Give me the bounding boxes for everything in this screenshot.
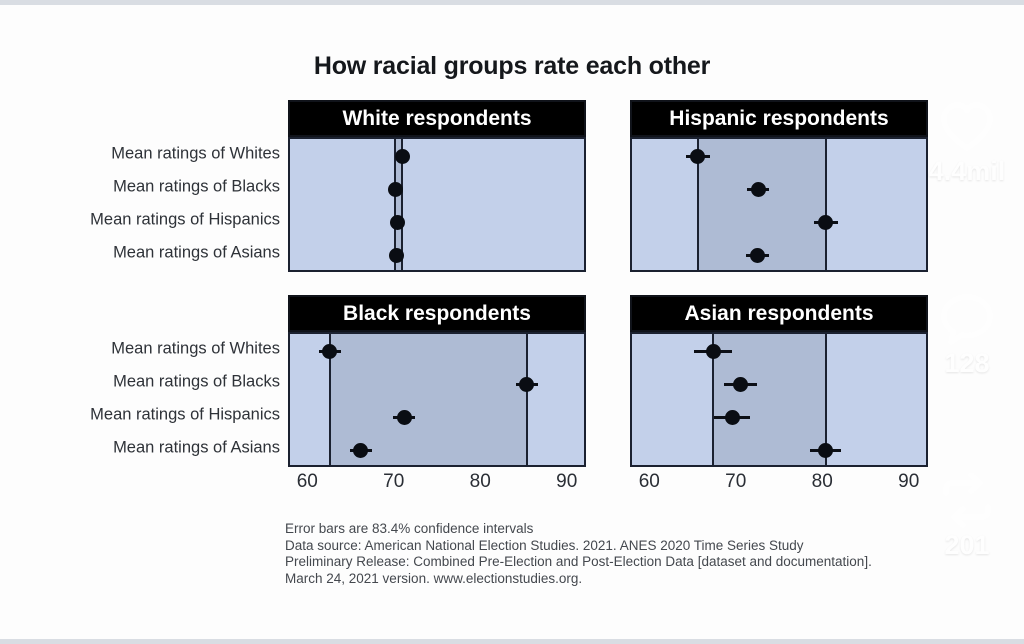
- data-point: [818, 215, 833, 230]
- x-tick-label: 90: [898, 471, 919, 493]
- x-axis: 60708090: [630, 471, 928, 493]
- footnote: Error bars are 83.4% confidence interval…: [285, 521, 872, 587]
- page-title: How racial groups rate each other: [0, 52, 1024, 81]
- comment-button[interactable]: 128: [924, 288, 1010, 379]
- footnote-line: Data source: American National Election …: [285, 538, 872, 555]
- data-row: [290, 335, 584, 368]
- footnote-line: Error bars are 83.4% confidence interval…: [285, 521, 872, 538]
- panel-black-respondents: Black respondents: [288, 295, 586, 467]
- panel-hispanic-respondents: Hispanic respondents: [630, 100, 928, 272]
- panel-white-respondents: White respondents: [288, 100, 586, 272]
- x-tick-label: 60: [297, 471, 318, 493]
- data-row: [290, 368, 584, 401]
- data-point: [818, 443, 833, 458]
- panel-title-white-respondents: White respondents: [288, 100, 586, 137]
- data-point: [519, 377, 534, 392]
- data-row: [632, 368, 926, 401]
- y-axis-label: Mean ratings of Blacks: [113, 178, 280, 197]
- data-row: [632, 173, 926, 206]
- panel-asian-respondents: Asian respondents: [630, 295, 928, 467]
- data-point: [389, 248, 404, 263]
- x-tick-label: 70: [725, 471, 746, 493]
- y-axis-label: Mean ratings of Hispanics: [90, 406, 280, 425]
- data-row: [290, 206, 584, 239]
- data-row: [290, 239, 584, 272]
- data-row: [632, 434, 926, 467]
- data-row: [632, 335, 926, 368]
- data-point: [322, 344, 337, 359]
- x-tick-label: 70: [383, 471, 404, 493]
- data-row: [290, 434, 584, 467]
- plot-area-asian-respondents: [630, 332, 928, 467]
- data-point: [725, 410, 740, 425]
- data-row: [290, 140, 584, 173]
- plot-area-black-respondents: [288, 332, 586, 467]
- video-frame-edge-bottom: [0, 639, 1024, 644]
- y-axis-label: Mean ratings of Asians: [113, 439, 280, 458]
- data-row: [632, 206, 926, 239]
- data-row: [290, 401, 584, 434]
- chart-canvas: How racial groups rate each other White …: [0, 0, 1024, 644]
- x-axis: 60708090: [288, 471, 586, 493]
- data-point: [353, 443, 368, 458]
- data-point: [751, 182, 766, 197]
- comment-bubble-icon: [936, 288, 998, 350]
- footnote-line: March 24, 2021 version. www.electionstud…: [285, 571, 872, 588]
- y-axis-label: Mean ratings of Hispanics: [90, 211, 280, 230]
- panel-title-black-respondents: Black respondents: [288, 295, 586, 332]
- data-point: [388, 182, 403, 197]
- comment-count: 128: [944, 348, 989, 379]
- like-button[interactable]: 4.4mil: [924, 96, 1010, 187]
- y-axis-label: Mean ratings of Asians: [113, 244, 280, 263]
- repost-arrows-icon: [936, 470, 998, 532]
- x-tick-label: 90: [556, 471, 577, 493]
- video-frame-edge-top: [0, 0, 1024, 5]
- y-axis-label: Mean ratings of Whites: [111, 145, 280, 164]
- data-row: [632, 401, 926, 434]
- data-point: [690, 149, 705, 164]
- data-point: [395, 149, 410, 164]
- heart-icon: [936, 96, 998, 158]
- x-tick-label: 60: [639, 471, 660, 493]
- data-point: [397, 410, 412, 425]
- data-row: [632, 239, 926, 272]
- like-count: 4.4mil: [929, 156, 1006, 187]
- data-point: [733, 377, 748, 392]
- x-tick-label: 80: [470, 471, 491, 493]
- panel-title-hispanic-respondents: Hispanic respondents: [630, 100, 928, 137]
- data-row: [632, 140, 926, 173]
- y-axis-label: Mean ratings of Blacks: [113, 373, 280, 392]
- data-point: [390, 215, 405, 230]
- x-tick-label: 80: [812, 471, 833, 493]
- repost-count: 201: [944, 530, 989, 561]
- plot-area-white-respondents: [288, 137, 586, 272]
- data-point: [750, 248, 765, 263]
- plot-area-hispanic-respondents: [630, 137, 928, 272]
- repost-button[interactable]: 201: [924, 470, 1010, 561]
- footnote-line: Preliminary Release: Combined Pre-Electi…: [285, 554, 872, 571]
- data-point: [706, 344, 721, 359]
- data-row: [290, 173, 584, 206]
- y-axis-label: Mean ratings of Whites: [111, 340, 280, 359]
- panel-title-asian-respondents: Asian respondents: [630, 295, 928, 332]
